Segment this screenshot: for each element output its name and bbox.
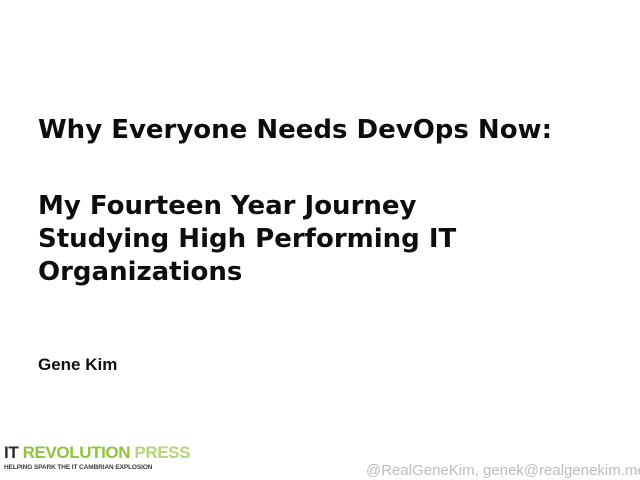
logo-word-it: IT bbox=[4, 443, 18, 462]
presentation-slide: Why Everyone Needs DevOps Now: My Fourte… bbox=[0, 0, 640, 480]
subtitle-line-1: My Fourteen Year Journey bbox=[38, 190, 538, 223]
logo-word-revolution: REVOLUTION bbox=[23, 443, 130, 462]
subtitle-line-2: Studying High Performing IT bbox=[38, 223, 538, 256]
it-revolution-press-logo: IT REVOLUTION PRESS HELPING SPARK THE IT… bbox=[4, 444, 182, 472]
author-name: Gene Kim bbox=[38, 355, 117, 375]
logo-tagline: HELPING SPARK THE IT CAMBRIAN EXPLOSION bbox=[4, 463, 182, 472]
logo-wordmark: IT REVOLUTION PRESS bbox=[4, 444, 182, 462]
logo-word-press: PRESS bbox=[134, 443, 190, 462]
footer-contact-text: @RealGeneKim, genek@realgenekim.me bbox=[366, 462, 640, 480]
subtitle-block: My Fourteen Year Journey Studying High P… bbox=[38, 190, 538, 289]
subtitle-line-3: Organizations bbox=[38, 256, 538, 289]
page-title: Why Everyone Needs DevOps Now: bbox=[38, 113, 608, 147]
author-block: Gene Kim bbox=[38, 355, 117, 375]
title-block: Why Everyone Needs DevOps Now: bbox=[38, 113, 608, 147]
